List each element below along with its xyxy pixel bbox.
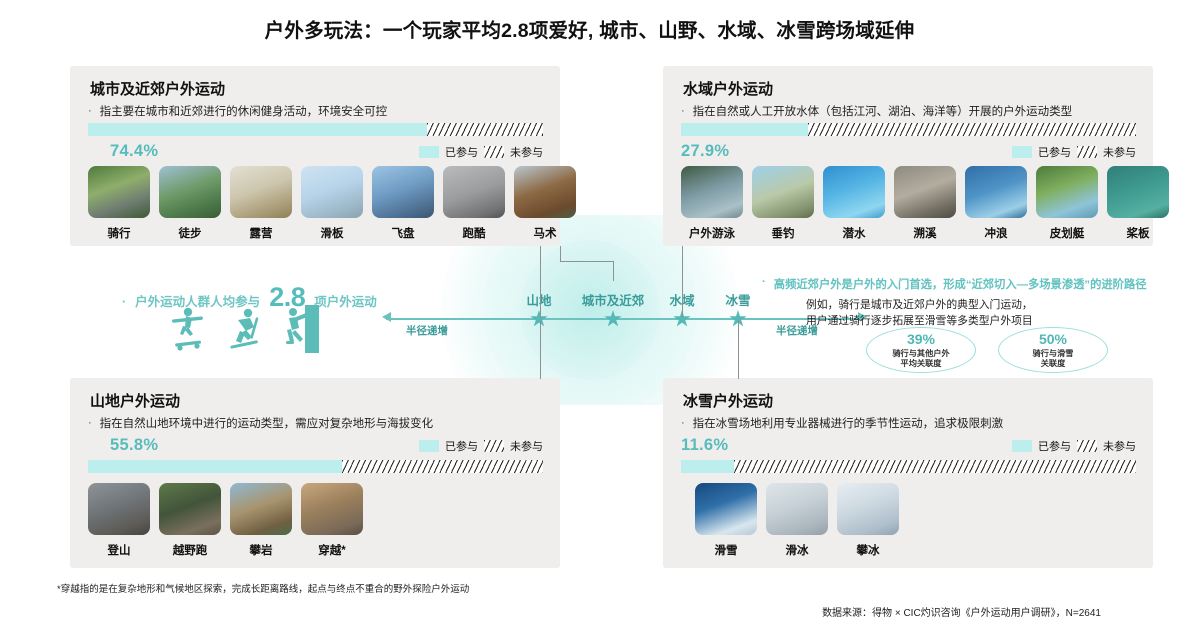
legend-swatch-participated-icon bbox=[419, 440, 439, 452]
bar-empty-segment bbox=[734, 460, 1136, 473]
bullet-icon: · bbox=[681, 417, 685, 430]
thumb-item[interactable]: 桨板 bbox=[1107, 166, 1169, 241]
legend-swatch-not-participated-icon bbox=[484, 146, 504, 158]
legend-label-participated: 已参与 bbox=[1038, 144, 1071, 160]
thumb-item[interactable]: 穿越* bbox=[301, 483, 363, 558]
axis-node-label-snow: 冰雪 bbox=[725, 290, 750, 309]
legend-swatch-not-participated-icon bbox=[1077, 440, 1097, 452]
panel-urban: 城市及近郊户外运动 · 指主要在城市和近郊进行的休闲健身活动，环境安全可控 74… bbox=[70, 66, 560, 246]
thumb-label: 滑冰 bbox=[766, 542, 828, 558]
thumb-item[interactable]: 溯溪 bbox=[894, 166, 956, 241]
panel-water-title: 水域户外运动 bbox=[681, 78, 775, 99]
panel-mountain-thumbnails: 登山 越野跑 攀岩 穿越* bbox=[88, 483, 363, 558]
panel-snow-description-text: 指在冰雪场地利用专业器械进行的季节性运动，追求极限刺激 bbox=[693, 417, 1004, 433]
panel-mountain-description-text: 指在自然山地环境中进行的运动类型，需应对复杂地形与海拔变化 bbox=[100, 417, 434, 433]
insight-sub-line-1: 例如，骑行是城市及近郊户外的典型入门运动， bbox=[806, 297, 1162, 313]
connector-mountain-up bbox=[540, 246, 541, 318]
skateboard-photo bbox=[301, 166, 363, 218]
thumb-item[interactable]: 冲浪 bbox=[965, 166, 1027, 241]
bullet-icon: · bbox=[762, 276, 766, 292]
panel-snow-percentage: 11.6% bbox=[681, 436, 728, 455]
frisbee-photo bbox=[372, 166, 434, 218]
insight-sub: 例如，骑行是城市及近郊户外的典型入门运动， 用户通过骑行逐步拓展至滑雪等多类型户… bbox=[806, 297, 1162, 329]
thumb-label: 户外游泳 bbox=[681, 225, 743, 241]
hiking-photo bbox=[159, 166, 221, 218]
panel-mountain-participation-bar bbox=[88, 460, 543, 473]
bar-empty-segment bbox=[342, 460, 543, 473]
insight-lead-text: 高频近郊户外是户外的入门首选，形成“近郊切入—多场景渗透”的进阶路径 bbox=[774, 276, 1147, 292]
bullet-icon: · bbox=[681, 105, 685, 118]
legend-swatch-participated-icon bbox=[1012, 440, 1032, 452]
panel-mountain-title: 山地户外运动 bbox=[88, 390, 182, 411]
panel-water-legend: 已参与 未参与 bbox=[1012, 144, 1136, 160]
parkour-photo bbox=[443, 166, 505, 218]
surfing-photo bbox=[965, 166, 1027, 218]
thumb-item[interactable]: 攀岩 bbox=[230, 483, 292, 558]
thumb-label: 溯溪 bbox=[894, 225, 956, 241]
connector-snow-down bbox=[738, 319, 739, 379]
diving-photo bbox=[823, 166, 885, 218]
panel-urban-description-text: 指主要在城市和近郊进行的休闲健身活动，环境安全可控 bbox=[100, 105, 388, 121]
star-icon bbox=[604, 310, 622, 328]
callout-line-1: 骑行与其他户外 bbox=[892, 349, 949, 359]
thumb-item[interactable]: 户外游泳 bbox=[681, 166, 743, 241]
thumb-label: 登山 bbox=[88, 542, 150, 558]
panel-water: 水域户外运动 · 指在自然或人工开放水体（包括江河、湖泊、海洋等）开展的户外运动… bbox=[663, 66, 1153, 246]
axis-radius-label-left: 半径递增 bbox=[406, 323, 448, 338]
panel-urban-description: · 指主要在城市和近郊进行的休闲健身活动，环境安全可控 bbox=[88, 105, 546, 121]
thumb-label: 滑雪 bbox=[695, 542, 757, 558]
thumb-label: 桨板 bbox=[1107, 225, 1169, 241]
thumb-label: 徒步 bbox=[159, 225, 221, 241]
panel-snow-title: 冰雪户外运动 bbox=[681, 390, 775, 411]
panel-mountain-percentage: 55.8% bbox=[110, 436, 158, 455]
thumb-item[interactable]: 露营 bbox=[230, 166, 292, 241]
skiing-photo bbox=[695, 483, 757, 535]
legend-label-not-participated: 未参与 bbox=[1103, 438, 1136, 454]
connector-urban-horizontal bbox=[560, 261, 614, 262]
panel-urban-thumbnails: 骑行 徒步 露营 滑板 飞盘 跑酷 bbox=[88, 166, 576, 241]
panel-snow-participation-bar bbox=[681, 460, 1136, 473]
star-icon bbox=[530, 310, 548, 328]
data-source-note: 数据来源：得物 × CIC灼识咨询《户外运动用户调研》，N=2641 bbox=[822, 604, 1101, 619]
panel-urban-legend: 已参与 未参与 bbox=[419, 144, 543, 160]
legend-label-not-participated: 未参与 bbox=[1103, 144, 1136, 160]
camping-photo bbox=[230, 166, 292, 218]
callout-line-1: 骑行与滑雪 bbox=[1033, 349, 1074, 359]
callout-line-2: 平均关联度 bbox=[901, 359, 942, 369]
panel-snow-thumbnails: 滑雪 滑冰 攀冰 bbox=[695, 483, 899, 558]
bar-filled-segment bbox=[88, 460, 342, 473]
ice-climbing-photo bbox=[837, 483, 899, 535]
legend-label-participated: 已参与 bbox=[445, 438, 478, 454]
skier-icon bbox=[224, 305, 264, 353]
thumb-item[interactable]: 滑板 bbox=[301, 166, 363, 241]
legend-swatch-participated-icon bbox=[419, 146, 439, 158]
thumb-item[interactable]: 滑雪 bbox=[695, 483, 757, 558]
thumb-item[interactable]: 飞盘 bbox=[372, 166, 434, 241]
thumb-label: 骑行 bbox=[88, 225, 150, 241]
correlation-callouts: 39% 骑行与其他户外 平均关联度 50% 骑行与滑雪 关联度 bbox=[866, 327, 1108, 373]
bar-filled-segment bbox=[681, 460, 734, 473]
paddleboard-photo bbox=[1107, 166, 1169, 218]
panel-snow: 冰雪户外运动 · 指在冰雪场地利用专业器械进行的季节性运动，追求极限刺激 11.… bbox=[663, 378, 1153, 568]
panel-snow-description: · 指在冰雪场地利用专业器械进行的季节性运动，追求极限刺激 bbox=[681, 417, 1139, 433]
axis-node-urban[interactable] bbox=[604, 310, 622, 328]
kayaking-photo bbox=[1036, 166, 1098, 218]
legend-swatch-not-participated-icon bbox=[1077, 146, 1097, 158]
cycling-photo bbox=[88, 166, 150, 218]
thumb-label: 攀岩 bbox=[230, 542, 292, 558]
panel-water-thumbnails: 户外游泳 垂钓 潜水 溯溪 冲浪 皮划艇 bbox=[681, 166, 1169, 241]
connector-water-up bbox=[682, 246, 683, 318]
legend-label-participated: 已参与 bbox=[1038, 438, 1071, 454]
canyoning-photo bbox=[894, 166, 956, 218]
thumb-label: 越野跑 bbox=[159, 542, 221, 558]
panel-water-description-text: 指在自然或人工开放水体（包括江河、湖泊、海洋等）开展的户外运动类型 bbox=[693, 105, 1073, 121]
footnote-traverse-definition: *穿越指的是在复杂地形和气候地区探索，完成长距离路线，起点与终点不重合的野外探险… bbox=[57, 581, 469, 595]
callout-value: 39% bbox=[907, 331, 935, 349]
panel-mountain-legend: 已参与 未参与 bbox=[419, 438, 543, 454]
thumb-label: 穿越* bbox=[301, 542, 363, 558]
bar-filled-segment bbox=[681, 123, 808, 136]
axis-node-label-mountain: 山地 bbox=[526, 290, 551, 309]
panel-snow-legend: 已参与 未参与 bbox=[1012, 438, 1136, 454]
bar-empty-segment bbox=[808, 123, 1136, 136]
legend-label-not-participated: 未参与 bbox=[510, 438, 543, 454]
thumb-label: 飞盘 bbox=[372, 225, 434, 241]
thumb-label: 马术 bbox=[514, 225, 576, 241]
equestrian-photo bbox=[514, 166, 576, 218]
connector-mountain-down bbox=[540, 319, 541, 379]
average-stat-suffix: 项户外运动 bbox=[314, 291, 377, 310]
infographic-root: 户外多玩法：一个玩家平均2.8项爱好, 城市、山野、水域、冰雪跨场域延伸 城市及… bbox=[0, 0, 1179, 625]
thumb-label: 露营 bbox=[230, 225, 292, 241]
trail-running-photo bbox=[159, 483, 221, 535]
ice-skating-photo bbox=[766, 483, 828, 535]
callout-value: 50% bbox=[1039, 331, 1067, 349]
callout-cycling-other-outdoor: 39% 骑行与其他户外 平均关联度 bbox=[866, 327, 976, 373]
page-title: 户外多玩法：一个玩家平均2.8项爱好, 城市、山野、水域、冰雪跨场域延伸 bbox=[0, 14, 1179, 43]
bullet-icon: · bbox=[88, 105, 92, 118]
fishing-photo bbox=[752, 166, 814, 218]
thumb-item[interactable]: 皮划艇 bbox=[1036, 166, 1098, 241]
axis-arrow-left-icon bbox=[382, 312, 391, 322]
skateboarder-icon bbox=[168, 305, 208, 353]
thumb-item[interactable]: 登山 bbox=[88, 483, 150, 558]
activity-pictogram-group bbox=[168, 305, 320, 353]
thumb-item[interactable]: 马术 bbox=[514, 166, 576, 241]
climber-icon bbox=[280, 305, 320, 353]
thumb-label: 滑板 bbox=[301, 225, 363, 241]
panel-water-percentage: 27.9% bbox=[681, 142, 729, 161]
thumb-item[interactable]: 滑冰 bbox=[766, 483, 828, 558]
thumb-label: 跑酷 bbox=[443, 225, 505, 241]
legend-label-participated: 已参与 bbox=[445, 144, 478, 160]
panel-urban-percentage: 74.4% bbox=[110, 142, 158, 161]
legend-swatch-not-participated-icon bbox=[484, 440, 504, 452]
thumb-label: 皮划艇 bbox=[1036, 225, 1098, 241]
thumb-item[interactable]: 跑酷 bbox=[443, 166, 505, 241]
connector-urban-stub bbox=[613, 261, 614, 281]
thumb-label: 攀冰 bbox=[837, 542, 899, 558]
thumb-item[interactable]: 骑行 bbox=[88, 166, 150, 241]
bar-filled-segment bbox=[88, 123, 427, 136]
panel-urban-participation-bar bbox=[88, 123, 543, 136]
panel-water-participation-bar bbox=[681, 123, 1136, 136]
insight-block: · 高频近郊户外是户外的入门首选，形成“近郊切入—多场景渗透”的进阶路径 例如，… bbox=[762, 276, 1162, 329]
rock-climbing-photo bbox=[230, 483, 292, 535]
thumb-item[interactable]: 潜水 bbox=[823, 166, 885, 241]
bullet-icon: · bbox=[88, 417, 92, 430]
legend-label-not-participated: 未参与 bbox=[510, 144, 543, 160]
callout-line-2: 关联度 bbox=[1041, 359, 1066, 369]
axis-node-mountain[interactable] bbox=[530, 310, 548, 328]
panel-urban-title: 城市及近郊户外运动 bbox=[88, 78, 227, 99]
thumb-label: 冲浪 bbox=[965, 225, 1027, 241]
mountaineering-photo bbox=[88, 483, 150, 535]
legend-swatch-participated-icon bbox=[1012, 146, 1032, 158]
connector-urban-up bbox=[560, 246, 561, 262]
panel-mountain: 山地户外运动 · 指在自然山地环境中进行的运动类型，需应对复杂地形与海拔变化 5… bbox=[70, 378, 560, 568]
callout-cycling-skiing: 50% 骑行与滑雪 关联度 bbox=[998, 327, 1108, 373]
insight-lead: · 高频近郊户外是户外的入门首选，形成“近郊切入—多场景渗透”的进阶路径 bbox=[762, 276, 1162, 292]
bullet-icon: · bbox=[122, 295, 126, 309]
bar-empty-segment bbox=[427, 123, 543, 136]
thumb-label: 垂钓 bbox=[752, 225, 814, 241]
thumb-label: 潜水 bbox=[823, 225, 885, 241]
thumb-item[interactable]: 越野跑 bbox=[159, 483, 221, 558]
axis-node-label-urban: 城市及近郊 bbox=[582, 290, 645, 309]
panel-water-description: · 指在自然或人工开放水体（包括江河、湖泊、海洋等）开展的户外运动类型 bbox=[681, 105, 1139, 121]
panel-mountain-description: · 指在自然山地环境中进行的运动类型，需应对复杂地形与海拔变化 bbox=[88, 417, 546, 433]
traverse-photo bbox=[301, 483, 363, 535]
thumb-item[interactable]: 徒步 bbox=[159, 166, 221, 241]
open-water-swimming-photo bbox=[681, 166, 743, 218]
thumb-item[interactable]: 攀冰 bbox=[837, 483, 899, 558]
thumb-item[interactable]: 垂钓 bbox=[752, 166, 814, 241]
